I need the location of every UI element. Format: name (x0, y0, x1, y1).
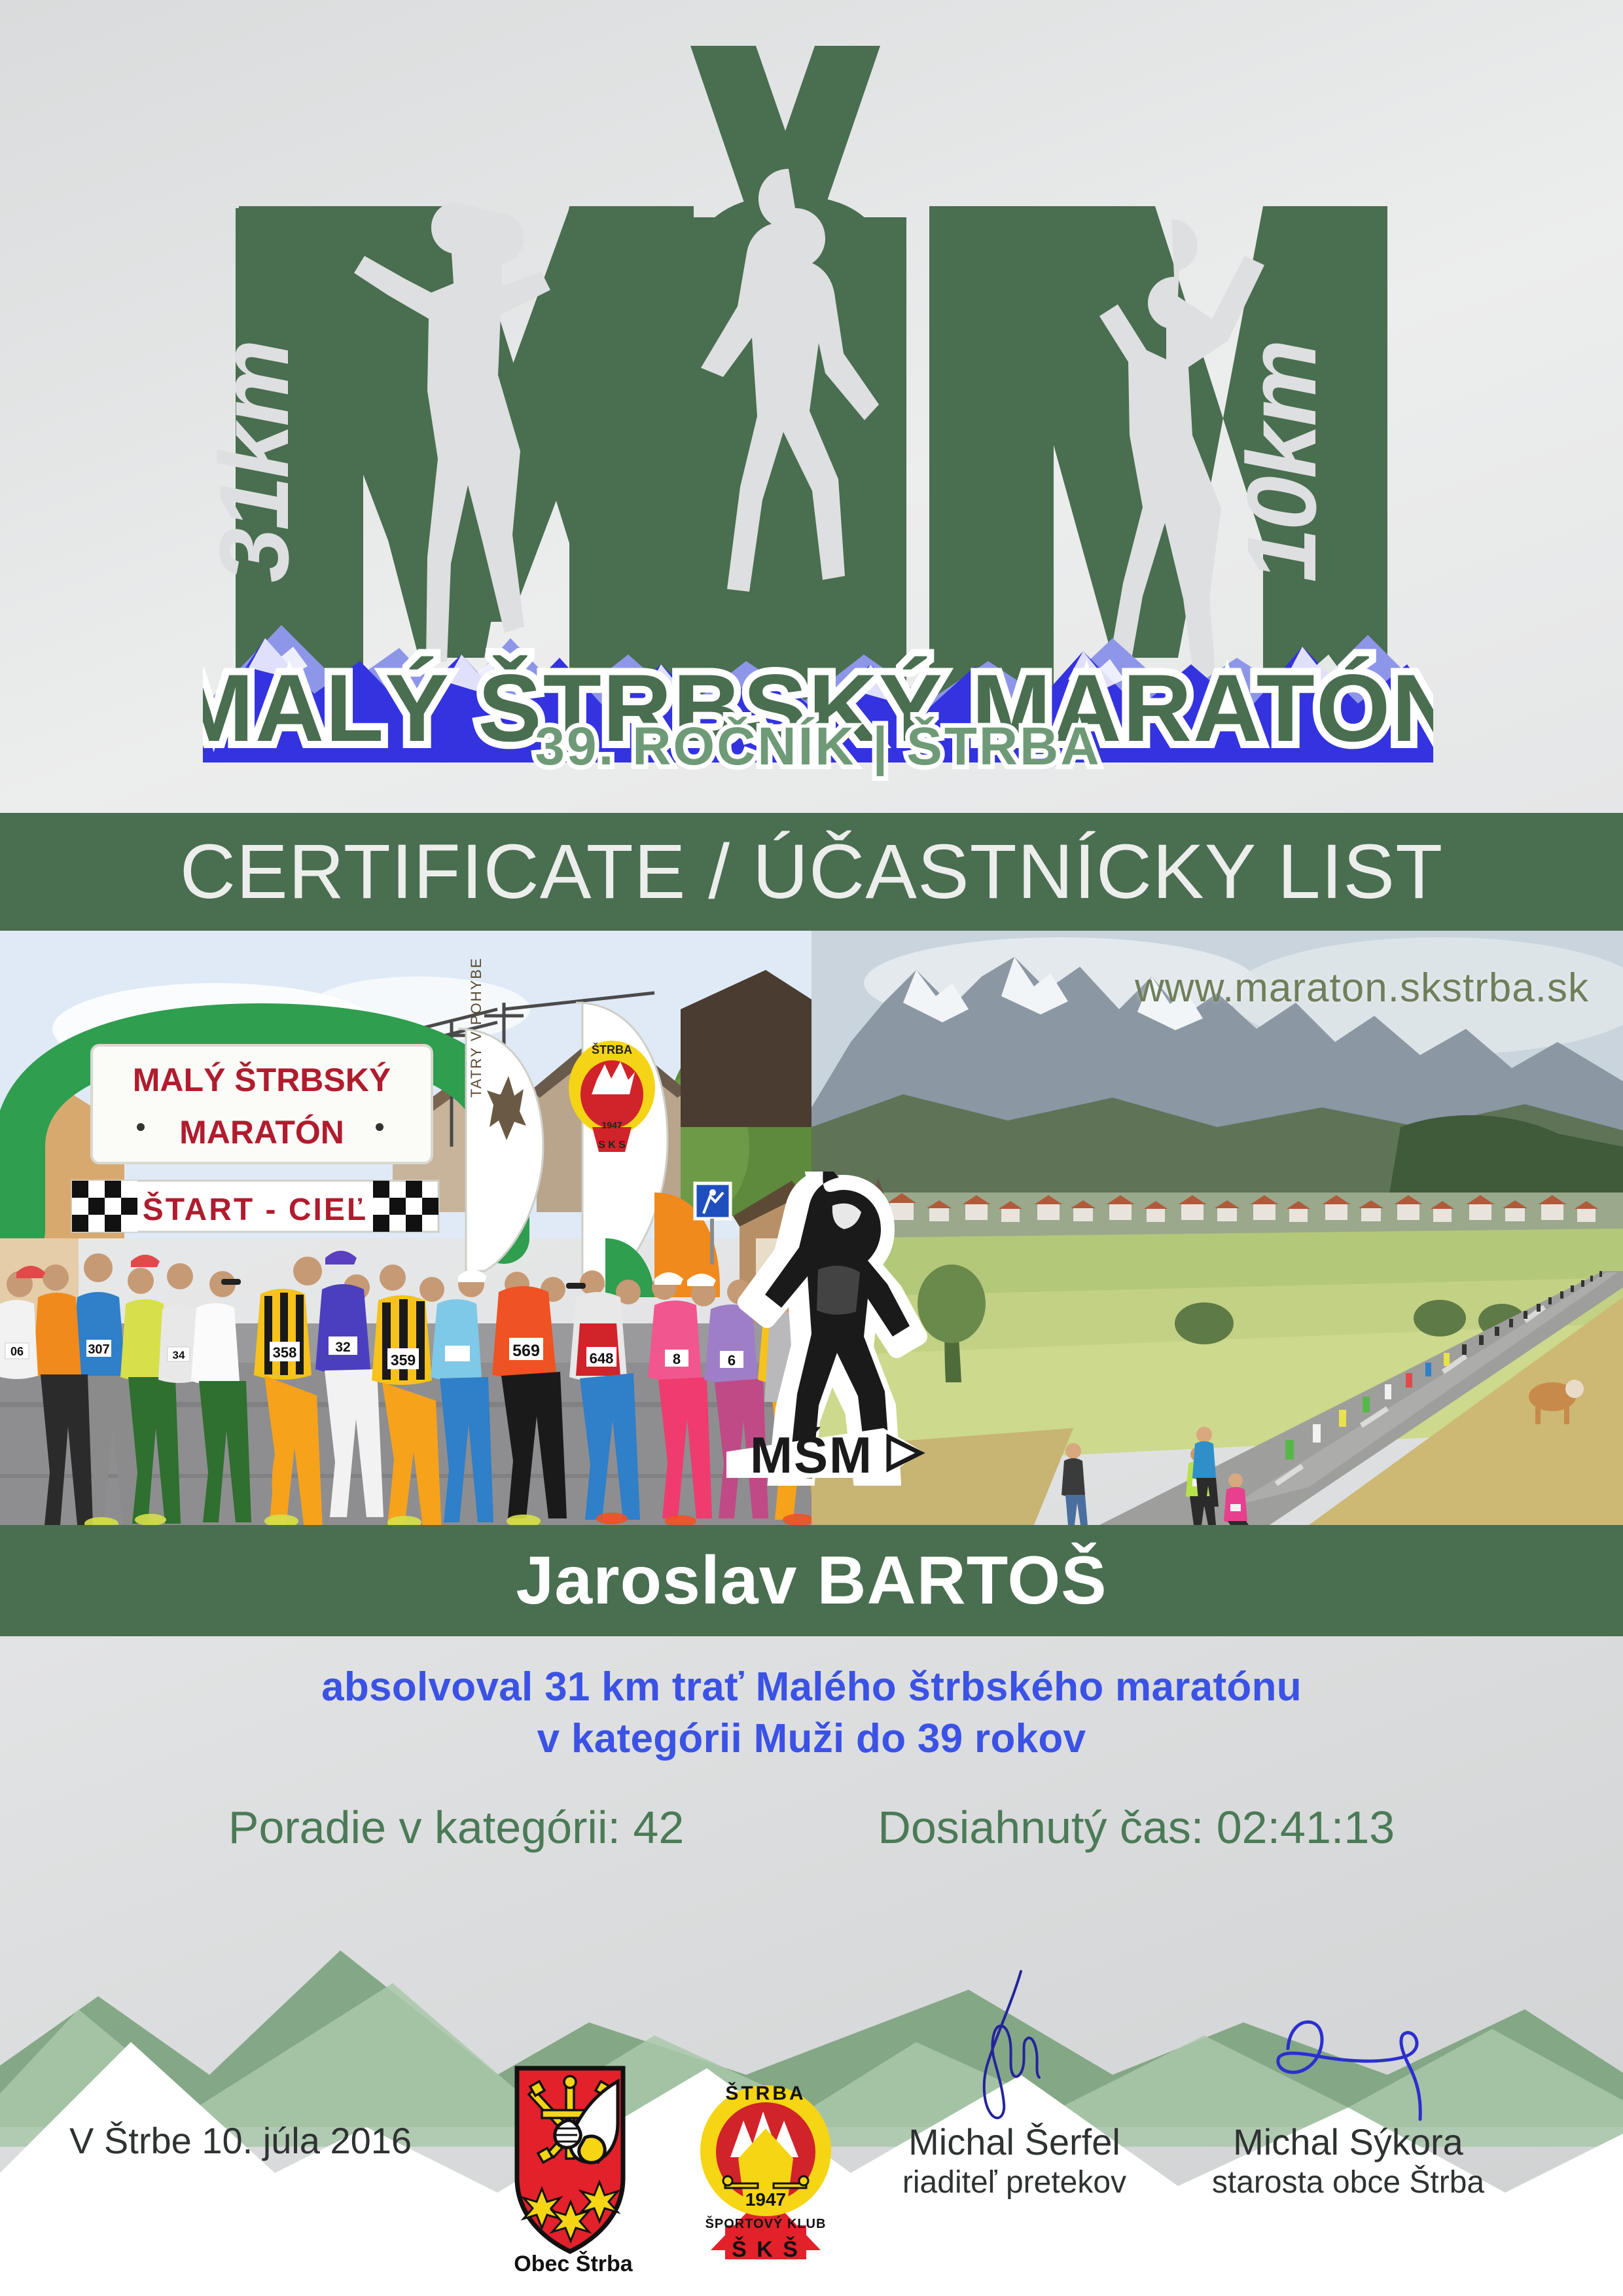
footer: V Štrbe 10. júla 2016 (0, 2081, 1623, 2296)
result-area: absolvoval 31 km trať Malého štrbského m… (0, 1636, 1623, 1944)
sks-year: 1947 (745, 2189, 786, 2210)
certificate-title: CERTIFICATE / ÚČASTNÍCKY LIST (180, 833, 1443, 910)
flag-text: TATRY V POHYBE (468, 957, 484, 1098)
place-date: V Štrbe 10. júla 2016 (69, 2119, 412, 2162)
certificate-page: 31km 10km (0, 0, 1623, 2296)
logo-distance-left: 31km (203, 342, 309, 583)
participant-name-band: Jaroslav BARTOŠ (0, 1525, 1623, 1636)
stats-row: Poradie v kategórii: 42 Dosiahnutý čas: … (0, 1801, 1623, 1854)
bib-307: 307 (88, 1342, 109, 1357)
svg-text:10km: 10km (1226, 342, 1336, 583)
arch-line1: MALÝ ŠTRBSKÝ (133, 1061, 391, 1098)
description-line-2: v kategórii Muži do 39 rokov (0, 1713, 1623, 1765)
arch-banner: ŠTART - CIEĽ (143, 1191, 368, 1227)
event-logo: 31km 10km (0, 0, 1623, 795)
sks-strba-logo: ŠTRBA 1947 ŠPORTOVÝ KLUB Š K Š (699, 2054, 833, 2276)
signature-name-director: Michal Šerfel (857, 2122, 1171, 2162)
signature-name-mayor: Michal Sýkora (1191, 2122, 1505, 2162)
msm-logo-graphic: 31km 10km (203, 46, 1433, 772)
sks-top-text: ŠTRBA (725, 2082, 806, 2104)
start-arch: MALÝ ŠTRBSKÝ MARATÓN (20, 1029, 504, 1238)
svg-text:ŠTRBA: ŠTRBA (592, 1043, 632, 1056)
svg-text:S K S: S K S (598, 1139, 626, 1151)
obec-strba-crest: Obec Štrba (508, 2060, 649, 2276)
description-line-1: absolvoval 31 km trať Malého štrbského m… (0, 1661, 1623, 1713)
signature-role-mayor: starosta obce Štrba (1191, 2164, 1505, 2202)
bib-358: 358 (273, 1344, 297, 1361)
msm-runner-sticker: MŠM (720, 1172, 942, 1486)
bib-06: 06 (10, 1345, 24, 1358)
svg-text:31km: 31km (203, 342, 309, 583)
bib-32: 32 (335, 1340, 350, 1355)
signature-role-director: riaditeľ pretekov (857, 2164, 1171, 2202)
svg-text:1947: 1947 (601, 1120, 622, 1130)
logo-edition-wrap: 39. ROČNÍK | ŠTRBA (203, 700, 1433, 785)
rank-value: Poradie v kategórii: 42 (228, 1801, 685, 1854)
obec-crest-label: Obec Štrba (514, 2251, 633, 2276)
sks-initials: Š K Š (732, 2236, 800, 2262)
signature-block-mayor: Michal Sýkora starosta obce Štrba (1191, 1970, 1505, 2201)
time-value: Dosiahnutý čas: 02:41:13 (878, 1801, 1395, 1854)
arch-line2: MARATÓN (179, 1114, 344, 1151)
website-url: www.maraton.skstrba.sk (1135, 965, 1589, 1011)
race-start-photo: MALÝ ŠTRBSKÝ MARATÓN (0, 931, 811, 1525)
participant-name: Jaroslav BARTOŠ (516, 1547, 1107, 1615)
signature-ink-mayor (1191, 1970, 1505, 2122)
sticker-label: MŠM (750, 1426, 873, 1484)
bib-648: 648 (590, 1350, 614, 1367)
signature-ink-director (857, 1970, 1171, 2122)
bib-569: 569 (512, 1342, 540, 1360)
logo-edition: 39. ROČNÍK | ŠTRBA (535, 717, 1101, 777)
bib-34: 34 (173, 1349, 185, 1361)
race-start-illustration: MALÝ ŠTRBSKÝ MARATÓN (0, 931, 811, 1525)
bib-8: 8 (673, 1351, 681, 1367)
bib-359: 359 (391, 1352, 416, 1369)
sks-arc-text: ŠPORTOVÝ KLUB (705, 2215, 827, 2231)
logo-distance-right: 10km (1226, 342, 1336, 583)
signature-block-director: Michal Šerfel riaditeľ pretekov (857, 1970, 1171, 2201)
spectator-1 (1061, 1443, 1088, 1525)
certificate-title-band: CERTIFICATE / ÚČASTNÍCKY LIST (0, 813, 1623, 931)
